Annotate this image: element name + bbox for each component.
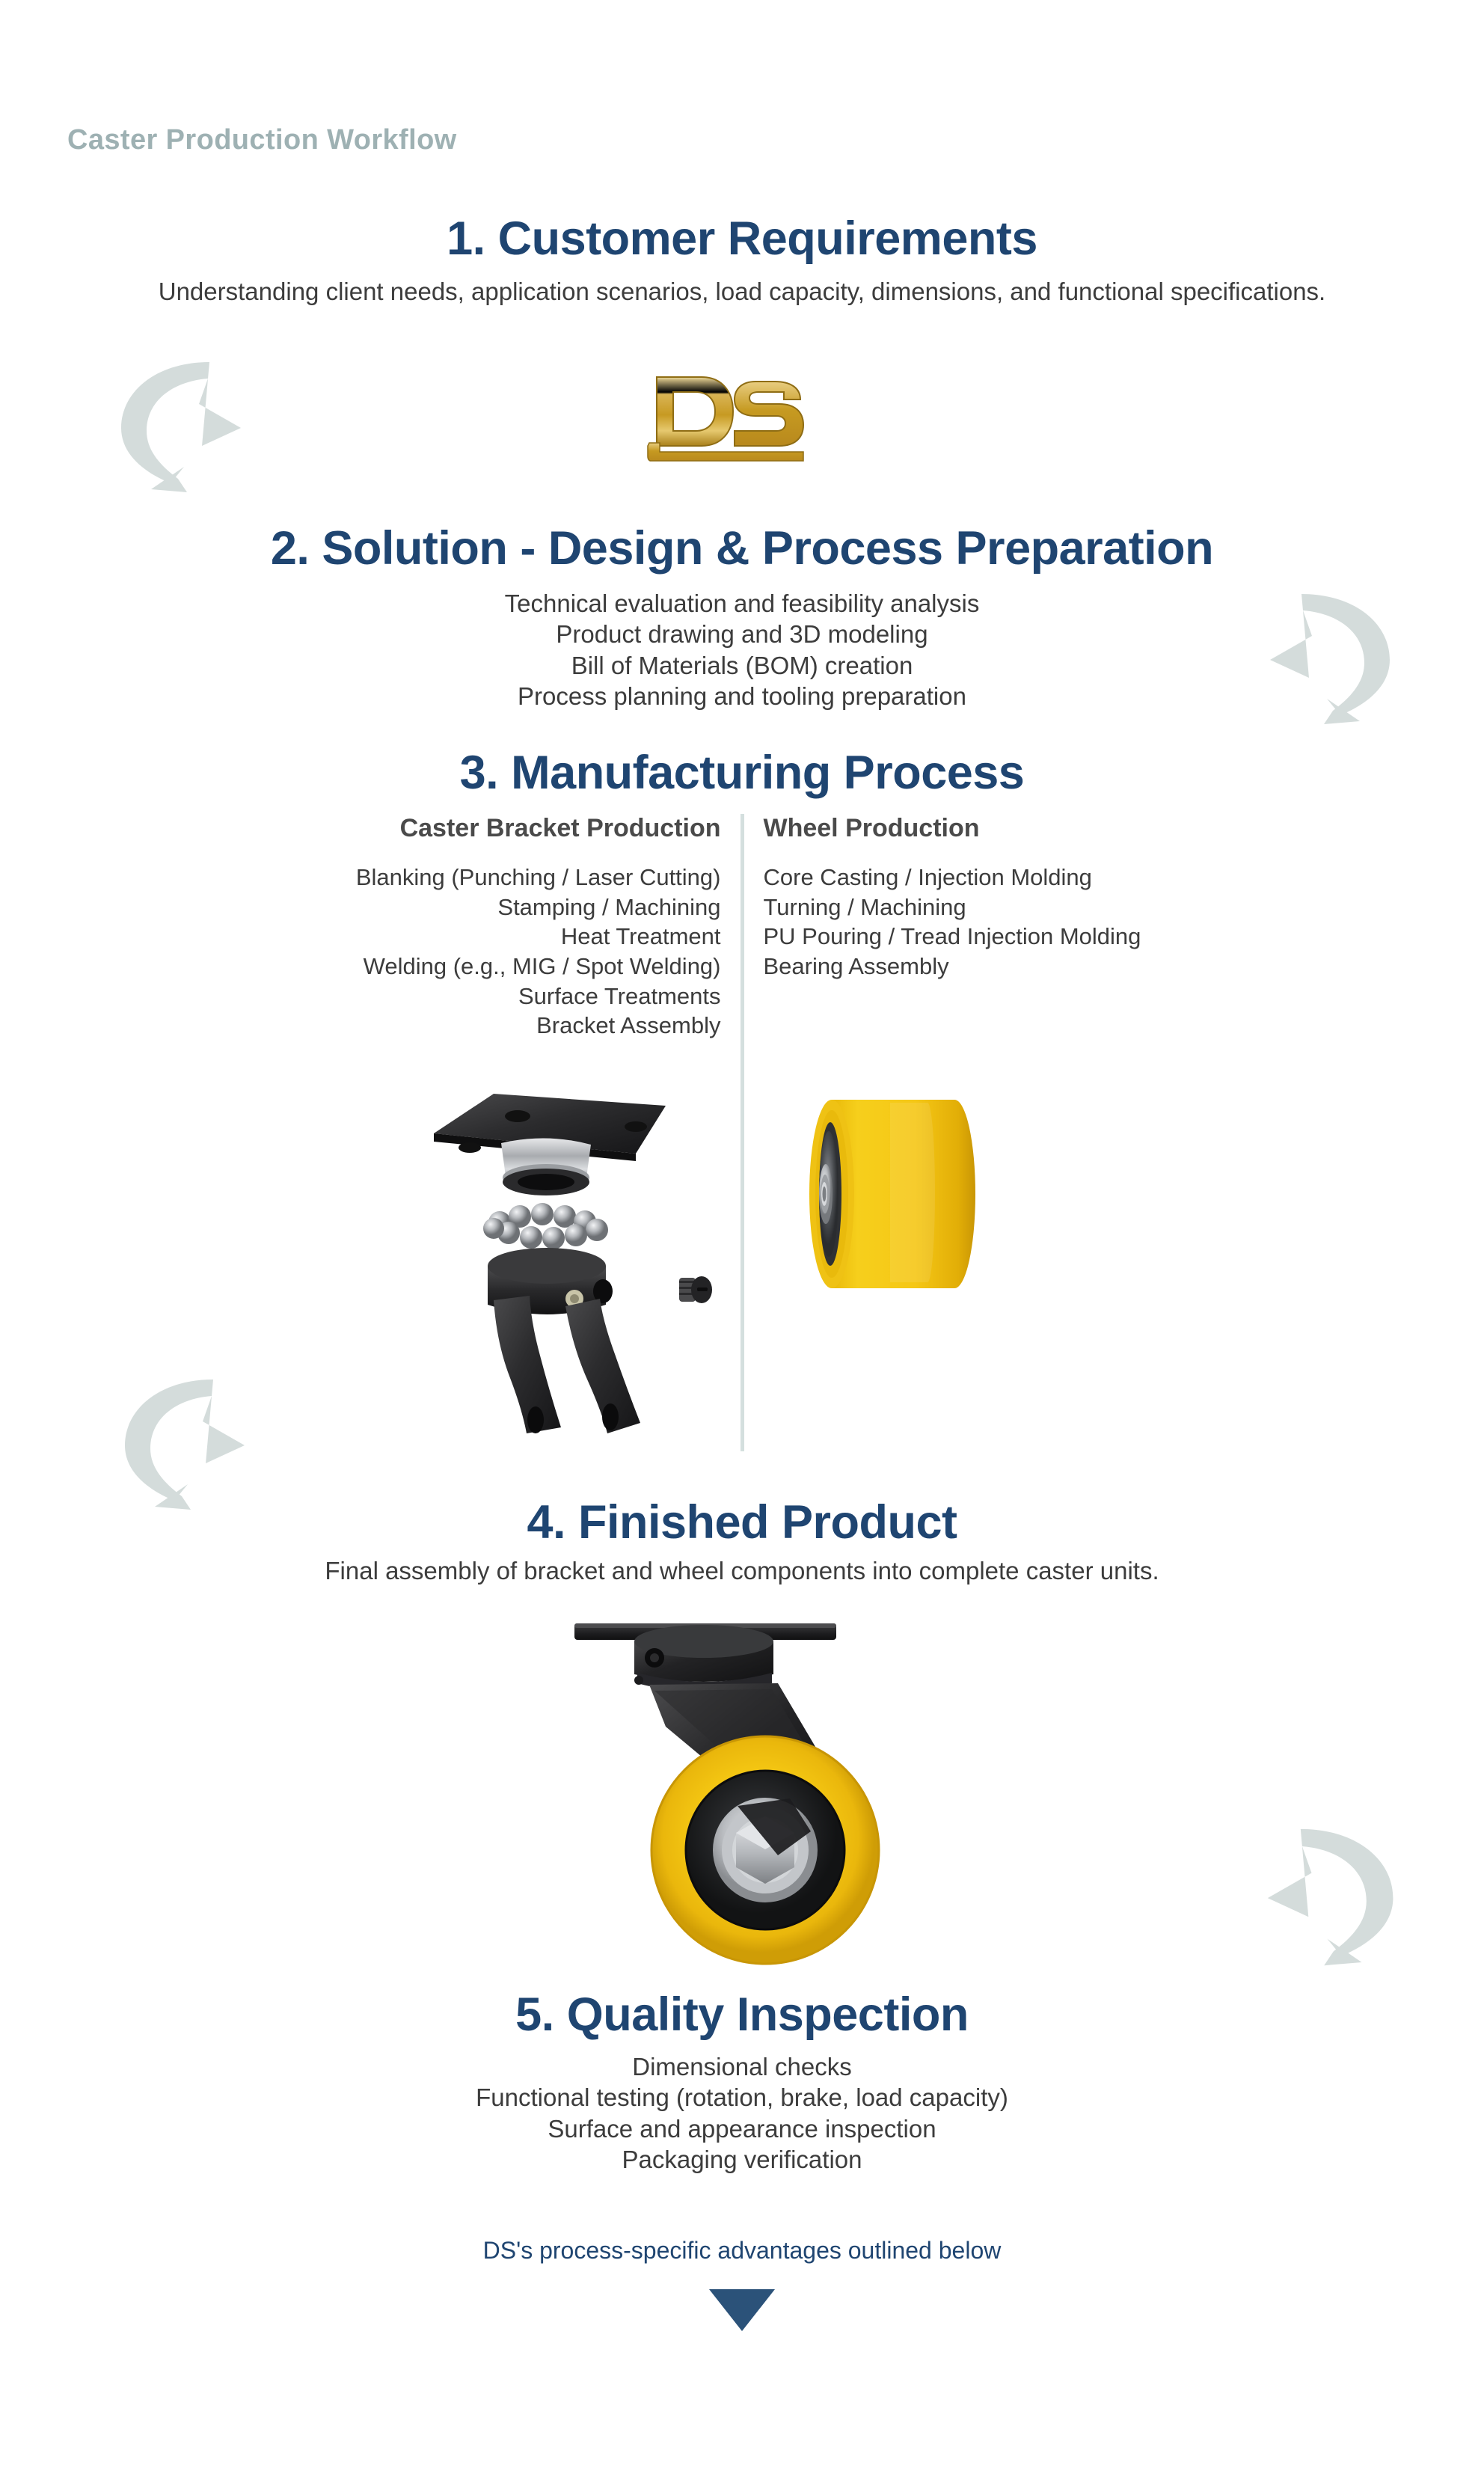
manufacturing-columns: Caster Bracket Production Blanking (Punc… <box>0 814 1484 1451</box>
step-2-heading: 2. Solution - Design & Process Preparati… <box>0 524 1484 573</box>
caster-bracket-image <box>389 1062 718 1451</box>
list-item: Core Casting / Injection Molding <box>764 863 1141 892</box>
column-title: Caster Bracket Production <box>344 814 721 843</box>
list-item: Blanking (Punching / Laser Cutting) <box>344 863 721 892</box>
section-quality-inspection: 5. Quality Inspection Dimensional checks… <box>0 1990 1484 2175</box>
list-item: Welding (e.g., MIG / Spot Welding) <box>344 952 721 982</box>
section-manufacturing: 3. Manufacturing Process <box>0 748 1484 797</box>
list-item: Functional testing (rotation, brake, loa… <box>0 2082 1484 2113</box>
triangle-down-icon <box>709 2289 775 2331</box>
curved-arrow-down-right-icon <box>116 1377 273 1511</box>
list-item: Turning / Machining <box>764 892 1141 922</box>
ds-logo <box>643 368 830 465</box>
section-customer-requirements: 1. Customer Requirements Understanding c… <box>0 214 1484 307</box>
curved-arrow-down-left-icon <box>1238 1825 1402 1968</box>
list-item: PU Pouring / Tread Injection Molding <box>764 922 1141 952</box>
column-title: Wheel Production <box>764 814 1141 843</box>
list-item: Stamping / Machining <box>344 892 721 922</box>
step-1-subtitle: Understanding client needs, application … <box>0 277 1484 307</box>
column-list: Blanking (Punching / Laser Cutting) Stam… <box>344 863 721 1041</box>
wheel-image <box>778 1070 1040 1317</box>
section-finished-product: 4. Finished Product Final assembly of br… <box>0 1498 1484 1587</box>
footer-note: DS's process-specific advantages outline… <box>0 2237 1484 2265</box>
page-title: Caster Production Workflow <box>67 124 457 156</box>
column-caster-bracket-production: Caster Bracket Production Blanking (Punc… <box>344 814 741 1041</box>
step-5-list: Dimensional checks Functional testing (r… <box>0 2051 1484 2175</box>
infographic-page: Caster Production Workflow 1. Customer R… <box>0 0 1484 2474</box>
list-item: Bearing Assembly <box>764 952 1141 982</box>
list-item: Dimensional checks <box>0 2051 1484 2082</box>
column-list: Core Casting / Injection Molding Turning… <box>764 863 1141 982</box>
curved-arrow-down-right-icon <box>112 359 269 494</box>
step-3-heading: 3. Manufacturing Process <box>0 748 1484 797</box>
list-item: Surface Treatments <box>344 982 721 1011</box>
list-item: Packaging verification <box>0 2144 1484 2175</box>
finished-caster-image <box>554 1592 942 1981</box>
step-1-heading: 1. Customer Requirements <box>0 214 1484 263</box>
list-item: Bracket Assembly <box>344 1011 721 1041</box>
column-wheel-production: Wheel Production Core Casting / Injectio… <box>744 814 1141 982</box>
list-item: Heat Treatment <box>344 922 721 952</box>
step-4-heading: 4. Finished Product <box>0 1498 1484 1547</box>
list-item: Surface and appearance inspection <box>0 2113 1484 2144</box>
step-5-heading: 5. Quality Inspection <box>0 1990 1484 2039</box>
curved-arrow-down-left-icon <box>1242 591 1399 726</box>
step-4-subtitle: Final assembly of bracket and wheel comp… <box>0 1556 1484 1587</box>
